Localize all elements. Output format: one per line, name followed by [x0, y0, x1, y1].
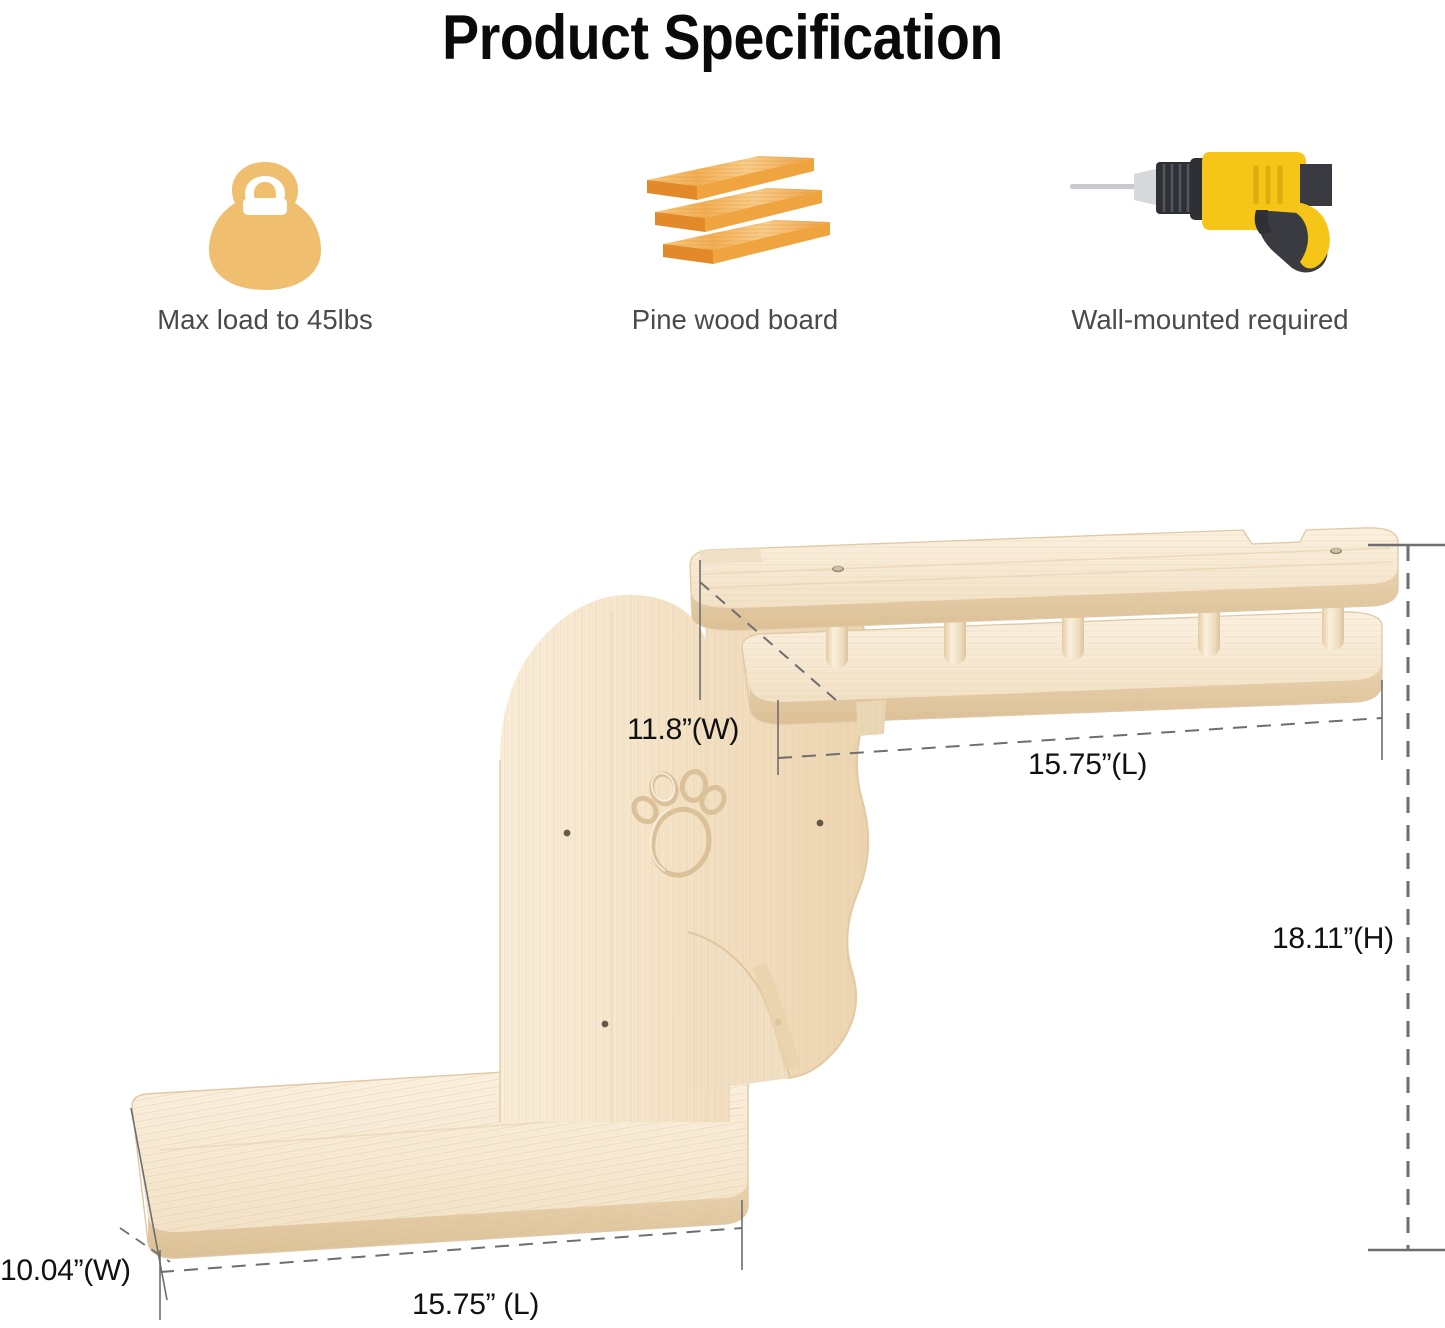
dowel	[1322, 581, 1344, 651]
dowel	[826, 597, 848, 669]
top-shelf-upper-platform	[690, 528, 1398, 630]
product-specification-page: Product Specification Max load to 45lbs	[0, 0, 1445, 1328]
page-title: Product Specification	[87, 2, 1359, 74]
kettlebell-icon	[55, 140, 475, 290]
feature-label: Pine wood board	[525, 304, 945, 336]
feature-list: Max load to 45lbs	[0, 140, 1445, 350]
feature-label: Max load to 45lbs	[55, 304, 475, 336]
top-shelf-lower-platform	[742, 612, 1382, 724]
feature-label: Wall-mounted required	[1000, 304, 1420, 336]
top-shelf-tenon	[856, 700, 886, 736]
dimension-label-bottom-shelf-length: 15.75” (L)	[412, 1288, 539, 1322]
paw-print-engraving	[629, 770, 728, 875]
support-bracket	[688, 932, 800, 1092]
wood-planks-icon	[525, 140, 945, 290]
bottom-shelf	[132, 1060, 748, 1258]
top-shelf-back-rail	[790, 566, 1372, 616]
dimension-label-bottom-shelf-width: 10.04”(W)	[0, 1254, 131, 1288]
dowel	[1198, 585, 1220, 657]
feature-item-max-load: Max load to 45lbs	[55, 140, 475, 336]
dimension-label-overall-height: 18.11”(H)	[1272, 922, 1394, 956]
dowel-rail-group	[826, 581, 1344, 669]
feature-item-material: Pine wood board	[525, 140, 945, 336]
dowel	[1062, 589, 1084, 661]
feature-item-mounting: Wall-mounted required	[1000, 140, 1420, 336]
power-drill-icon	[1000, 140, 1420, 290]
dimension-lines	[120, 545, 1445, 1320]
back-panel	[500, 560, 872, 1122]
dimension-label-top-shelf-length: 15.75”(L)	[1028, 748, 1147, 782]
dowel	[944, 593, 966, 665]
dimension-label-top-shelf-width: 11.8”(W)	[627, 713, 739, 747]
